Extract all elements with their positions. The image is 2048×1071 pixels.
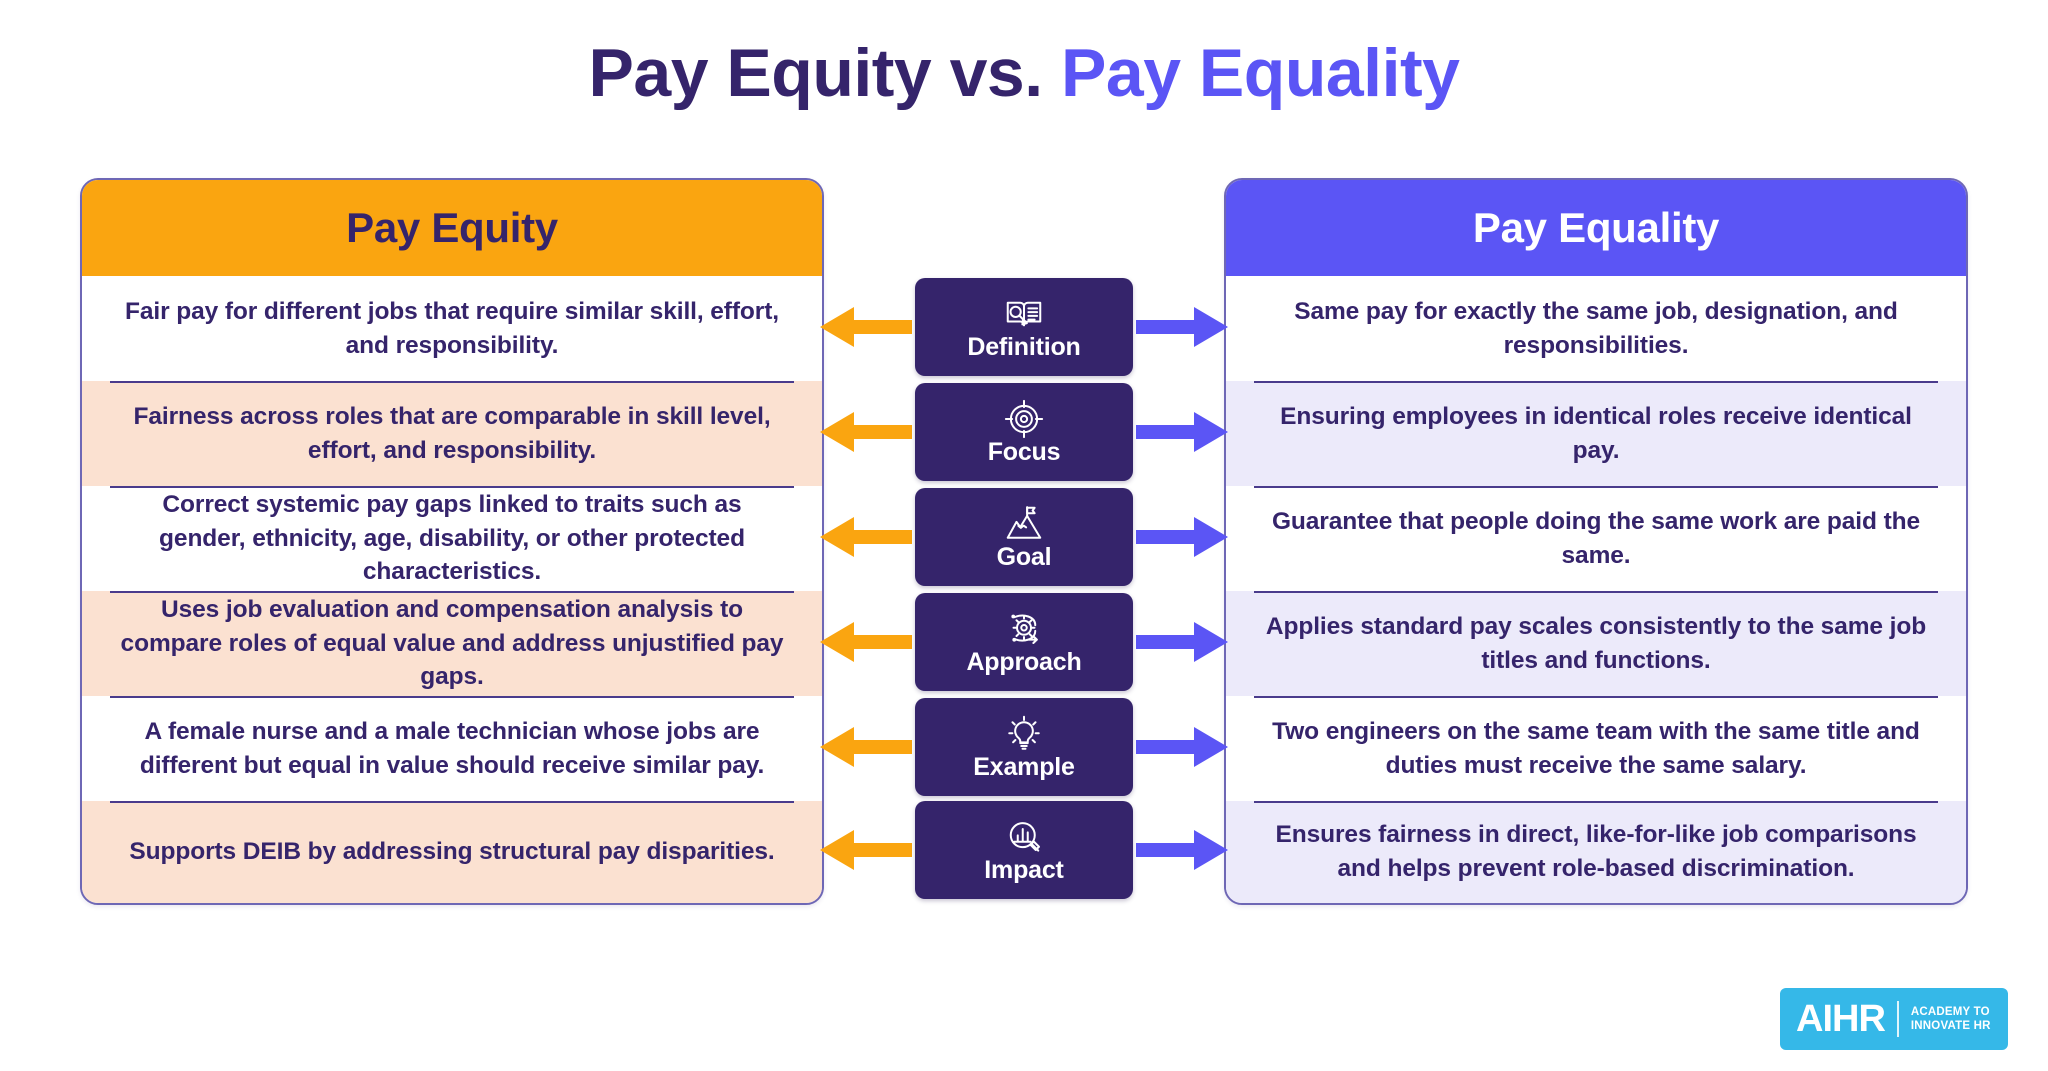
aihr-logo: AIHR ACADEMY TO INNOVATE HR: [1780, 988, 2008, 1050]
arrow-right-icon: [1136, 620, 1228, 664]
badge-label: Definition: [967, 335, 1080, 360]
arrow-left-icon: [820, 828, 912, 872]
table-row: A female nurse and a male technician who…: [82, 696, 822, 801]
badge-row: Definition: [824, 275, 1224, 379]
arrow-left-icon: [820, 410, 912, 454]
gear-process-icon: [1004, 609, 1044, 649]
lightbulb-icon: [1004, 714, 1044, 754]
pay-equality-rows: Same pay for exactly the same job, desig…: [1226, 276, 1966, 903]
badge-row: Focus: [824, 380, 1224, 484]
title-part-equity: Pay Equity: [589, 35, 932, 111]
logo-tagline: ACADEMY TO INNOVATE HR: [1911, 1005, 1991, 1034]
table-row: Uses job evaluation and compensation ana…: [82, 591, 822, 696]
page-title: Pay Equity vs. Pay Equality: [0, 36, 2048, 111]
title-vs: vs.: [931, 35, 1061, 111]
badge-label: Goal: [997, 545, 1052, 570]
book-magnifier-icon: [1004, 294, 1044, 334]
title-part-equality: Pay Equality: [1061, 35, 1459, 111]
arrow-left-icon: [820, 515, 912, 559]
badge-row: Impact: [824, 798, 1224, 902]
table-row: Fair pay for different jobs that require…: [82, 276, 822, 381]
badge-goal[interactable]: Goal: [915, 488, 1133, 586]
pay-equity-header: Pay Equity: [82, 180, 822, 276]
logo-divider: [1897, 1001, 1899, 1037]
table-row: Supports DEIB by addressing structural p…: [82, 801, 822, 903]
arrow-right-icon: [1136, 725, 1228, 769]
table-row: Guarantee that people doing the same wor…: [1226, 486, 1966, 591]
table-row: Two engineers on the same team with the …: [1226, 696, 1966, 801]
pay-equity-rows: Fair pay for different jobs that require…: [82, 276, 822, 903]
center-badge-column: DefinitionFocusGoalApproachExampleImpact: [824, 178, 1224, 938]
table-row: Ensuring employees in identical roles re…: [1226, 381, 1966, 486]
badge-impact[interactable]: Impact: [915, 801, 1133, 899]
badge-label: Example: [973, 755, 1074, 780]
chart-magnifier-icon: [1004, 817, 1044, 857]
pay-equality-card: Pay Equality Same pay for exactly the sa…: [1224, 178, 1968, 905]
badge-row: Goal: [824, 485, 1224, 589]
badge-approach[interactable]: Approach: [915, 593, 1133, 691]
badge-label: Focus: [988, 440, 1061, 465]
badge-example[interactable]: Example: [915, 698, 1133, 796]
pay-equality-header: Pay Equality: [1226, 180, 1966, 276]
table-row: Applies standard pay scales consistently…: [1226, 591, 1966, 696]
arrow-right-icon: [1136, 515, 1228, 559]
table-row: Correct systemic pay gaps linked to trai…: [82, 486, 822, 591]
target-crosshair-icon: [1004, 399, 1044, 439]
arrow-right-icon: [1136, 828, 1228, 872]
arrow-left-icon: [820, 725, 912, 769]
comparison-board: Pay Equity Fair pay for different jobs t…: [0, 178, 2048, 938]
badge-definition[interactable]: Definition: [915, 278, 1133, 376]
logo-tagline-line2: INNOVATE HR: [1911, 1019, 1991, 1033]
arrow-right-icon: [1136, 410, 1228, 454]
logo-tagline-line1: ACADEMY TO: [1911, 1005, 1991, 1019]
badge-label: Approach: [966, 650, 1081, 675]
arrow-right-icon: [1136, 305, 1228, 349]
table-row: Fairness across roles that are comparabl…: [82, 381, 822, 486]
logo-wordmark: AIHR: [1796, 1000, 1885, 1038]
arrow-left-icon: [820, 620, 912, 664]
pay-equity-card: Pay Equity Fair pay for different jobs t…: [80, 178, 824, 905]
badge-row: Approach: [824, 590, 1224, 694]
table-row: Ensures fairness in direct, like-for-lik…: [1226, 801, 1966, 903]
badge-focus[interactable]: Focus: [915, 383, 1133, 481]
arrow-left-icon: [820, 305, 912, 349]
badge-label: Impact: [984, 858, 1063, 883]
table-row: Same pay for exactly the same job, desig…: [1226, 276, 1966, 381]
badge-row: Example: [824, 695, 1224, 799]
mountain-flag-icon: [1004, 504, 1044, 544]
